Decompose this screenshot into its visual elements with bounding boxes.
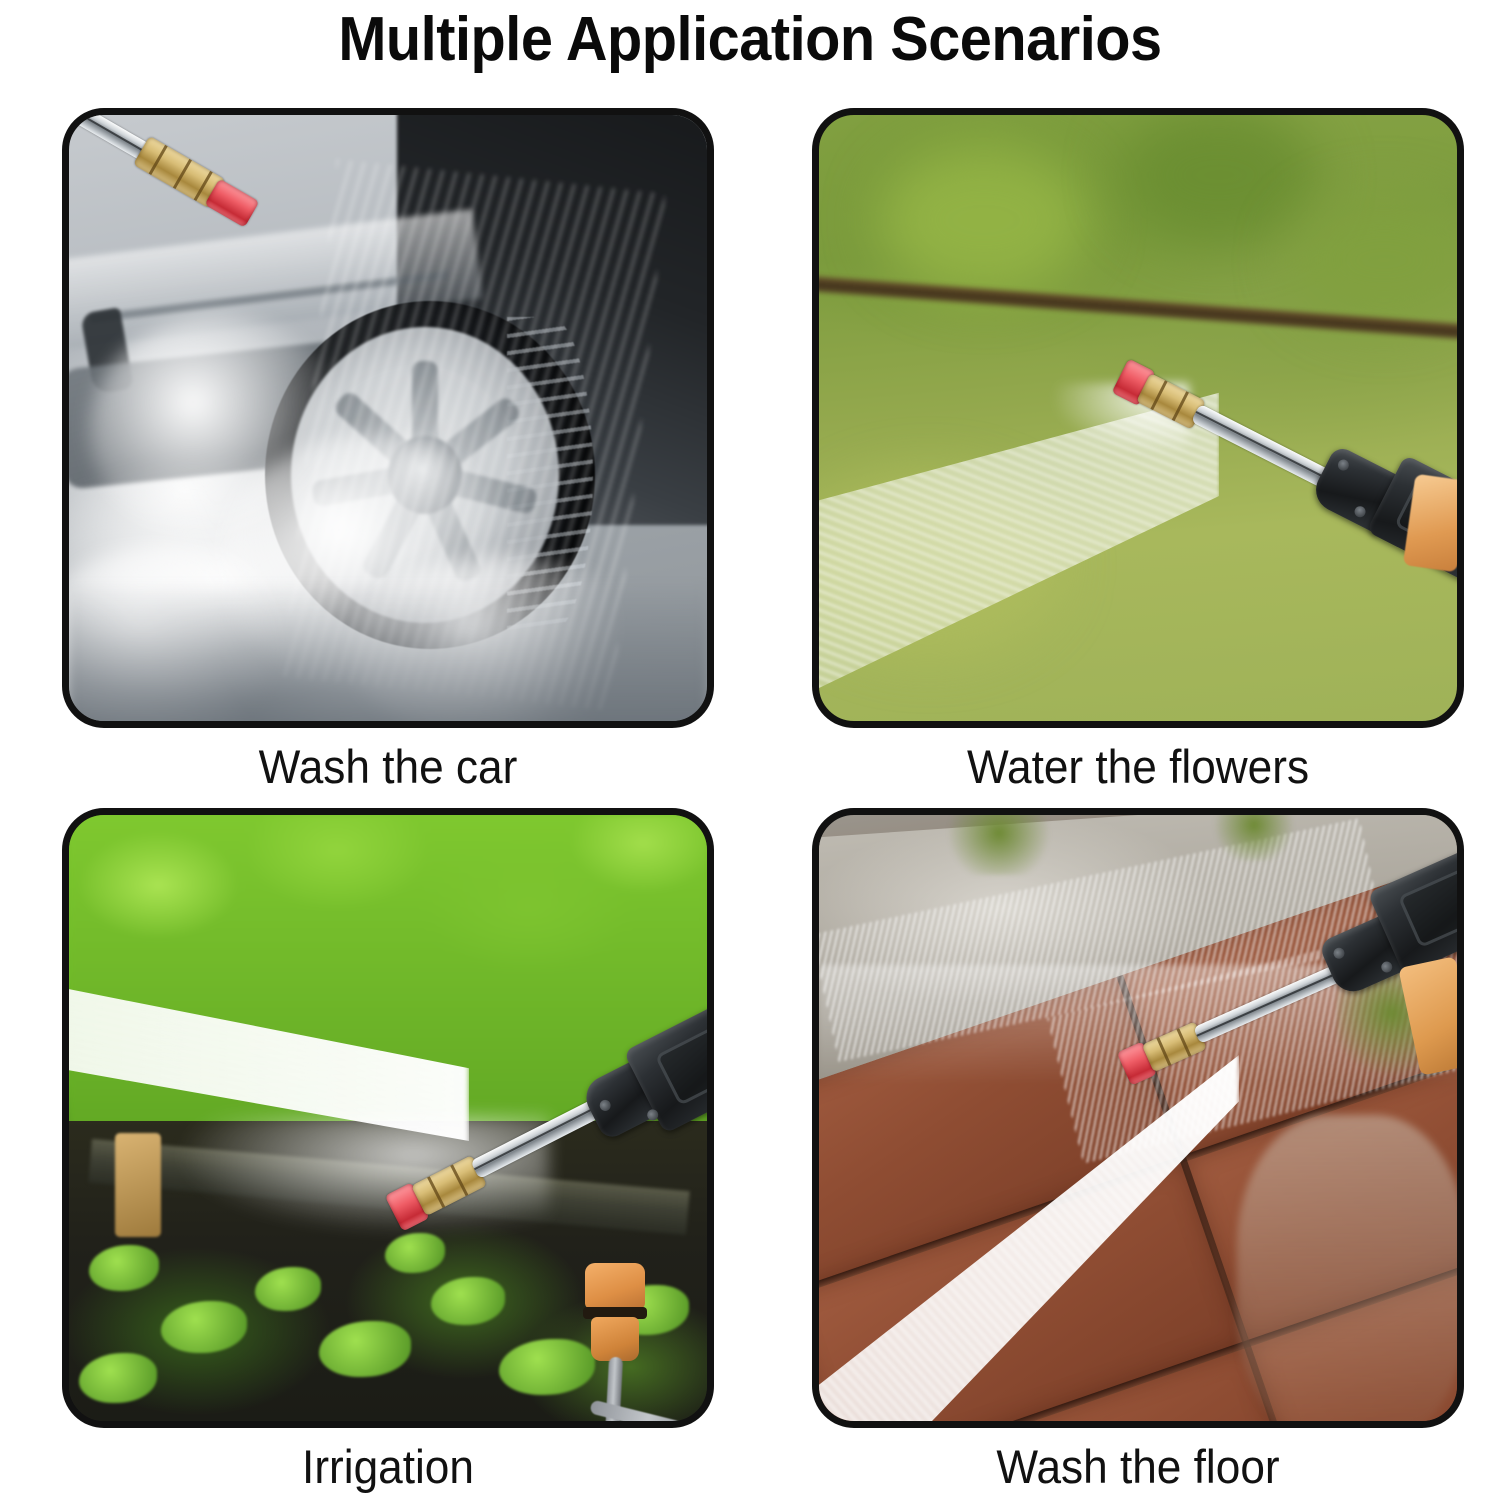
lawn-blur-blob <box>1289 195 1464 325</box>
collar-ring <box>450 1165 468 1197</box>
photo-wash-the-car <box>62 108 714 728</box>
scenario-card-wash-the-car[interactable]: Wash the car <box>62 108 714 732</box>
collar-ring <box>1176 1028 1191 1057</box>
collar-ring <box>149 145 168 175</box>
foam-cloud <box>89 315 349 545</box>
lance-highlight <box>62 108 147 154</box>
scenario-card-water-the-flowers[interactable]: Water the flowers <box>812 108 1464 732</box>
water-mist <box>62 1115 549 1315</box>
lance-tube <box>1191 404 1334 490</box>
scenario-grid: Wash the car <box>0 108 1500 1498</box>
lance-tube <box>62 108 151 161</box>
flowers-scene <box>819 115 1457 721</box>
weed-growth <box>939 808 1059 875</box>
scenario-card-irrigation[interactable]: Irrigation <box>62 808 714 1432</box>
collar-ring <box>1150 380 1167 410</box>
irrigation-scene <box>69 815 707 1421</box>
photo-wash-the-floor <box>812 808 1464 1428</box>
page-title: Multiple Application Scenarios <box>53 2 1448 78</box>
hose-connector <box>585 1263 645 1309</box>
scenario-card-wash-the-floor[interactable]: Wash the floor <box>812 808 1464 1432</box>
floor-scene <box>819 815 1457 1421</box>
lawn-blur-blob <box>879 145 1089 295</box>
gun-body-plate <box>1398 861 1464 948</box>
infographic-page: Multiple Application Scenarios <box>0 0 1500 1500</box>
photo-irrigation <box>62 808 714 1428</box>
caption-irrigation: Irrigation <box>44 1436 732 1498</box>
sprayer-assembly <box>1051 347 1464 698</box>
collar-ring <box>173 159 192 189</box>
car-scene <box>69 115 707 721</box>
photo-water-the-flowers <box>812 108 1464 728</box>
gun-body-plate <box>655 1019 714 1106</box>
lance-highlight <box>1195 411 1330 481</box>
wet-ground <box>69 581 707 728</box>
caption-wash-the-floor: Wash the floor <box>794 1436 1482 1498</box>
lawn-blur-blob <box>1119 108 1319 245</box>
collar-ring <box>1172 391 1189 421</box>
collar-ring <box>427 1176 445 1208</box>
collar-ring <box>1156 1037 1171 1066</box>
caption-wash-the-car: Wash the car <box>44 736 732 798</box>
weed-growth <box>1209 808 1299 861</box>
caption-water-the-flowers: Water the flowers <box>794 736 1482 798</box>
hose-connector-collar <box>591 1317 639 1361</box>
